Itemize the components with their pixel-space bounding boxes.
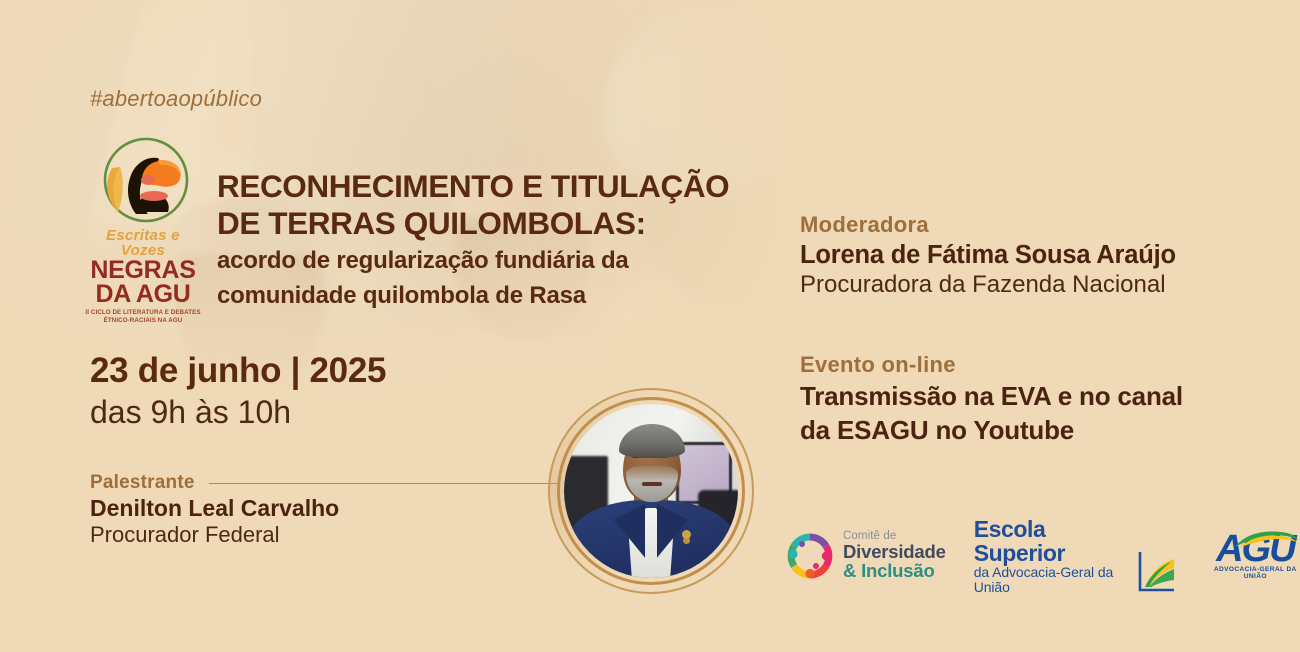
agu-swoosh-icon [1233, 530, 1299, 550]
portrait-mouth [642, 482, 662, 486]
online-event-block: Evento on-line Transmissão na EVA e no c… [800, 352, 1280, 446]
puzzle-circle-icon [786, 532, 834, 580]
event-time: das 9h às 10h [90, 395, 386, 430]
online-event-kicker: Evento on-line [800, 352, 1280, 378]
portrait-lapel-pin [682, 530, 691, 539]
title-line-1: RECONHECIMENTO E TITULAÇÃO [217, 168, 797, 205]
esagu-line-1: Escola Superior [974, 517, 1134, 565]
hashtag-label: #abertoaopúblico [90, 86, 262, 112]
brand-subtitle-line2: ÉTNICO-RACIAIS NA AGU [84, 317, 202, 325]
divider-line [209, 483, 560, 484]
diversity-committee-logo: Comitê de Diversidade & Inclusão [786, 531, 946, 580]
open-book-flag-icon [1137, 550, 1177, 594]
brand-logo-wordmark: Escritas e Vozes NEGRAS DA AGU II CICLO … [84, 228, 202, 325]
diversity-line-3: & Inclusão [843, 562, 946, 581]
title-line-2: DE TERRAS QUILOMBOLAS: [217, 205, 797, 242]
event-title: RECONHECIMENTO E TITULAÇÃO DE TERRAS QUI… [217, 168, 797, 311]
agu-logo: AGU ADVOCACIA-GERAL DA UNIÃO [1211, 532, 1300, 579]
brand-script-line: Escritas e Vozes [84, 228, 202, 258]
online-event-line-2: da ESAGU no Youtube [800, 415, 1280, 446]
esagu-wordmark: Escola Superior da Advocacia-Geral da Un… [974, 517, 1134, 595]
speaker-role: Procurador Federal [90, 522, 560, 548]
partner-logos: Comitê de Diversidade & Inclusão Escola … [786, 524, 1300, 588]
moderator-block: Moderadora Lorena de Fátima Sousa Araújo… [800, 212, 1270, 300]
esagu-line-2: da Advocacia-Geral da União [974, 565, 1134, 594]
event-poster: #abertoaopúblico Escritas e Vozes NEGRAS… [0, 0, 1300, 652]
online-event-line-1: Transmissão na EVA e no canal [800, 381, 1280, 412]
esagu-logo: Escola Superior da Advocacia-Geral da Un… [974, 517, 1177, 595]
speaker-portrait [548, 388, 754, 594]
brand-main-line2: DA AGU [84, 283, 202, 307]
agu-subtitle: ADVOCACIA-GERAL DA UNIÃO [1211, 566, 1300, 580]
speaker-kicker: Palestrante [90, 472, 195, 494]
moderator-name: Lorena de Fátima Sousa Araújo [800, 240, 1270, 270]
speaker-name: Denilton Leal Carvalho [90, 495, 560, 521]
portrait-photo [564, 404, 738, 578]
speaker-block: Palestrante Denilton Leal Carvalho Procu… [90, 472, 560, 549]
event-date-block: 23 de junho | 2025 das 9h às 10h [90, 352, 386, 430]
subtitle-line-2: comunidade quilombola de Rasa [217, 282, 797, 311]
brand-subtitle-line1: II CICLO DE LITERATURA E DEBATES [84, 309, 202, 317]
brand-logo: Escritas e Vozes NEGRAS DA AGU II CICLO … [84, 134, 202, 319]
woman-headwrap-icon [98, 134, 194, 230]
moderator-kicker: Moderadora [800, 212, 1270, 238]
event-date: 23 de junho | 2025 [90, 352, 386, 391]
moderator-role: Procuradora da Fazenda Nacional [800, 271, 1270, 300]
diversity-committee-wordmark: Comitê de Diversidade & Inclusão [843, 531, 946, 580]
subtitle-line-1: acordo de regularização fundiária da [217, 247, 797, 276]
